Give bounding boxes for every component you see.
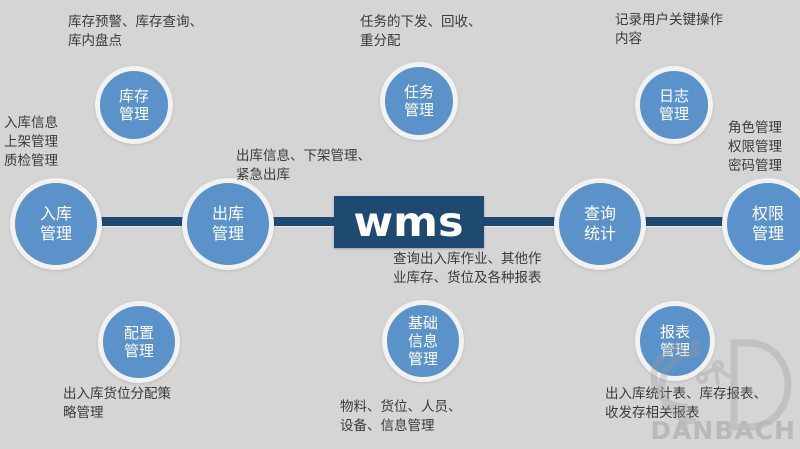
label-task-desc: 任务的下发、回收、 重分配: [360, 13, 482, 51]
wms-center-logo: wms: [334, 196, 484, 248]
node-query-stats[interactable]: 查询统计: [554, 178, 646, 270]
node-label-line: 管理: [659, 105, 689, 123]
node-label-line: 统计: [584, 224, 616, 244]
node-label-line: 报表: [660, 323, 690, 341]
node-permission[interactable]: 权限管理: [722, 178, 800, 270]
node-label-line: 权限: [752, 204, 784, 224]
wms-center-description: 查询出入库作业、其他作 业库存、货位及各种报表: [393, 250, 542, 288]
wms-logo-label: wms: [354, 198, 464, 246]
label-log-desc: 记录用户关键操作 内容: [615, 11, 723, 49]
node-label-line: 管理: [660, 341, 690, 359]
node-log[interactable]: 日志管理: [635, 66, 713, 144]
node-label-line: 出库: [212, 204, 244, 224]
node-label-line: 管理: [40, 224, 72, 244]
wms-architecture-diagram: wms 查询出入库作业、其他作 业库存、货位及各种报表 入库管理出库管理查询统计…: [0, 0, 800, 449]
danbach-watermark-text: DANBACH: [650, 416, 796, 445]
node-label-line: 管理: [408, 350, 438, 368]
node-label-line: 库存: [119, 87, 149, 105]
node-outbound[interactable]: 出库管理: [182, 178, 274, 270]
node-label-line: 管理: [124, 342, 154, 360]
node-label-line: 日志: [659, 87, 689, 105]
node-task[interactable]: 任务管理: [380, 62, 458, 140]
node-config[interactable]: 配置管理: [98, 301, 180, 383]
connector-outbound-wms: [268, 217, 344, 226]
label-permission-desc: 角色管理 权限管理 密码管理: [728, 119, 782, 176]
node-label-line: 管理: [752, 224, 784, 244]
node-label-line: 管理: [212, 224, 244, 244]
connector-inbound-outbound: [95, 217, 195, 226]
node-label-line: 信息: [408, 332, 438, 350]
node-label-line: 入库: [40, 204, 72, 224]
node-label-line: 任务: [404, 83, 434, 101]
label-basic-info-desc: 物料、货位、人员、 设备、信息管理: [340, 398, 462, 436]
node-inventory[interactable]: 库存管理: [95, 66, 173, 144]
label-inbound-desc: 入库信息 上架管理 质检管理: [4, 114, 58, 171]
label-inventory-desc: 库存预警、库存查询、 库内盘点: [68, 13, 203, 51]
node-label-line: 查询: [584, 204, 616, 224]
node-report[interactable]: 报表管理: [635, 301, 715, 381]
label-config-desc: 出入库货位分配策 略管理: [63, 385, 171, 423]
label-outbound-desc: 出库信息、下架管理、 紧急出库: [236, 147, 371, 185]
node-label-line: 管理: [404, 101, 434, 119]
node-label-line: 配置: [124, 324, 154, 342]
node-label-line: 基础: [408, 314, 438, 332]
node-inbound[interactable]: 入库管理: [10, 178, 102, 270]
node-basic-info[interactable]: 基础信息管理: [382, 300, 464, 382]
node-label-line: 管理: [119, 105, 149, 123]
